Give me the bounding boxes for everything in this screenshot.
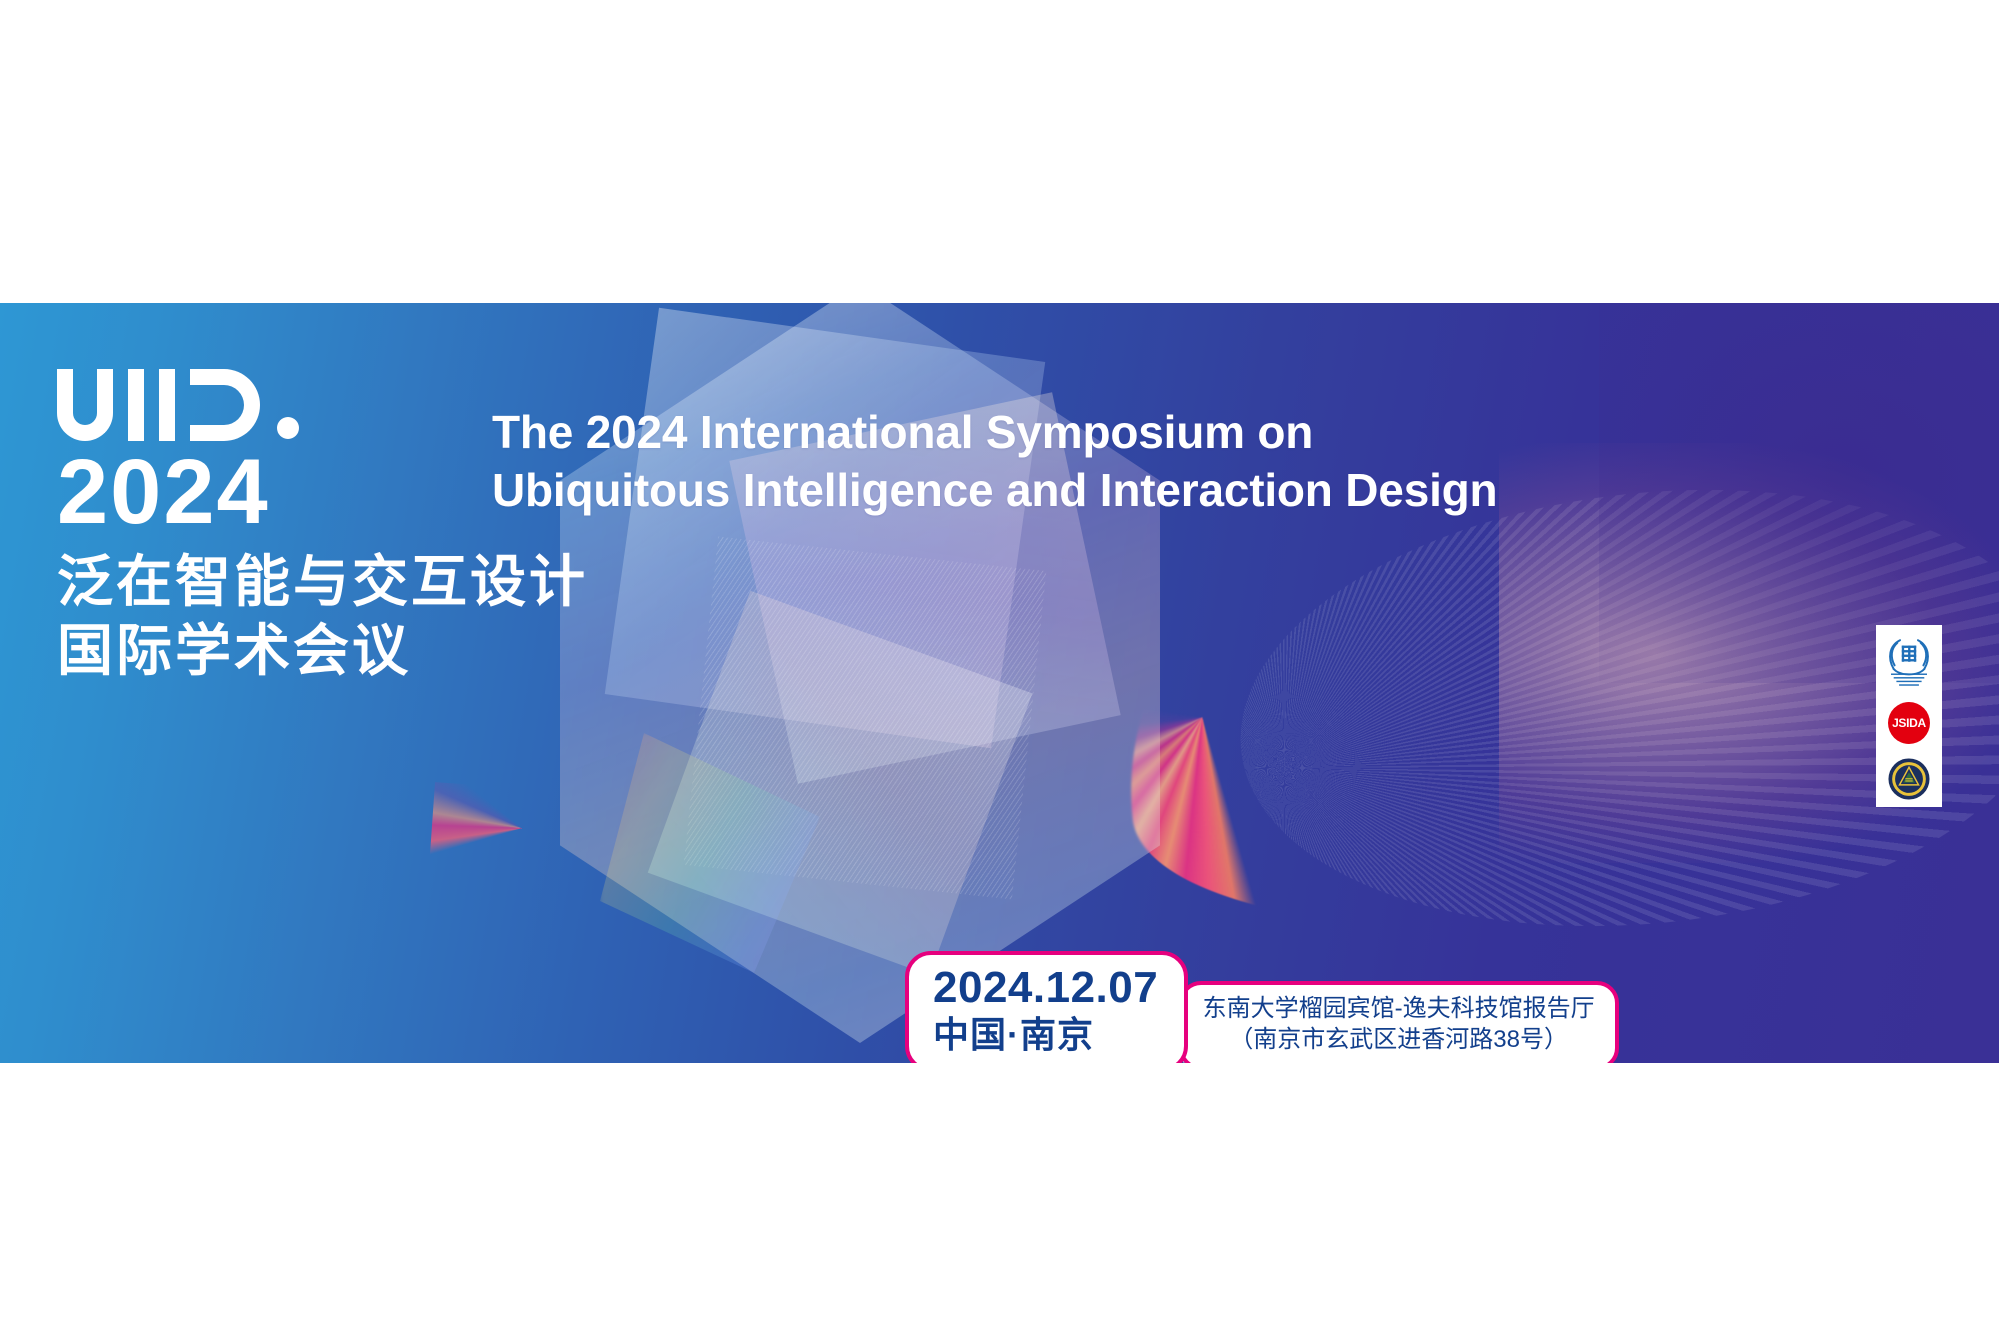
cn-title-line2: 国际学术会议 <box>57 617 588 685</box>
wedo-logo-icon <box>1882 631 1936 689</box>
cn-title-line1: 泛在智能与交互设计 <box>57 548 588 616</box>
glass-cube-a <box>605 308 1045 748</box>
jsida-logo-icon: JSIDA <box>1888 702 1930 744</box>
partner-logo-strip: JSIDA <box>1876 625 1942 807</box>
uiid-letter-i2 <box>159 369 175 441</box>
southeast-university-logo-icon <box>1887 757 1931 801</box>
conference-banner: 2024 泛在智能与交互设计 国际学术会议 The 2024 Internati… <box>0 303 1999 1063</box>
venue-badge: 东南大学榴园宾馆-逸夫科技馆报告厅 （南京市玄武区进香河路38号） <box>1179 981 1619 1063</box>
uiid-letter-u <box>57 369 113 441</box>
rainbow-refraction <box>600 733 820 973</box>
event-city: 中国·南京 <box>933 1013 1158 1056</box>
date-venue-badge: 2024.12.07 中国·南京 东南大学榴园宾馆-逸夫科技馆报告厅 （南京市玄… <box>905 951 1619 1063</box>
glass-cube-c <box>648 591 1033 976</box>
english-title-line1: The 2024 International Symposium on <box>492 403 1692 461</box>
venue-name: 东南大学榴园宾馆-逸夫科技馆报告厅 <box>1203 994 1595 1025</box>
english-title: The 2024 International Symposium on Ubiq… <box>492 403 1692 520</box>
date-badge: 2024.12.07 中国·南京 <box>905 951 1188 1063</box>
uiid-letter-i1 <box>128 369 144 441</box>
event-date: 2024.12.07 <box>933 965 1158 1011</box>
prism-line-texture <box>684 537 1047 900</box>
uiid-letter-d <box>190 369 260 441</box>
uiid-dot <box>277 417 299 439</box>
venue-address: （南京市玄武区进香河路38号） <box>1203 1025 1595 1056</box>
english-title-line2: Ubiquitous Intelligence and Interaction … <box>492 461 1692 519</box>
